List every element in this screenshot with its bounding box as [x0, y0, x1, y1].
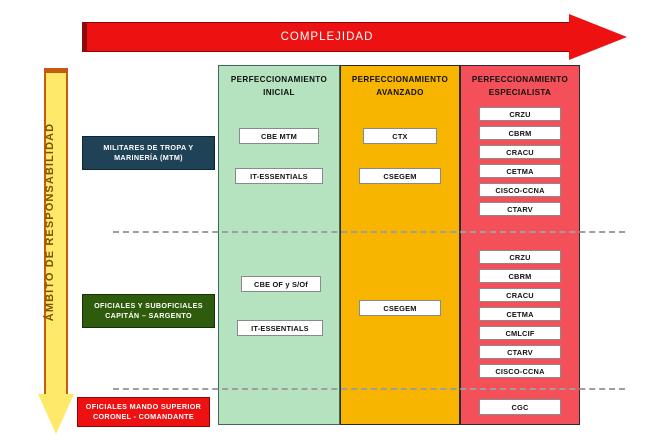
column-header-specialist-line1: PERFECCIONAMIENTO [461, 74, 579, 87]
role-label-troop: MILITARES DE TROPA Y MARINERÍA (MTM) [82, 136, 215, 170]
responsibility-arrow-head [38, 394, 74, 434]
row-separator-troop-officers [113, 231, 625, 233]
responsibility-arrow: ÁMBITO DE RESPONSABILIDAD [38, 68, 78, 436]
course-chip[interactable]: CISCO-CCNA [479, 183, 561, 197]
course-chip[interactable]: CETMA [479, 307, 561, 321]
role-label-troop-line2: MARINERÍA (MTM) [114, 153, 183, 163]
complexity-arrow-head [569, 14, 627, 60]
column-header-initial-line2: INICIAL [219, 87, 339, 100]
responsibility-axis-label: ÁMBITO DE RESPONSABILIDAD [44, 87, 56, 357]
role-label-troop-line1: MILITARES DE TROPA Y [103, 143, 193, 153]
course-chip[interactable]: CRACU [479, 288, 561, 302]
responsibility-arrow-cap [44, 68, 68, 73]
course-chip[interactable]: IT-ESSENTIALS [235, 168, 323, 184]
column-header-initial: PERFECCIONAMIENTO INICIAL [219, 74, 339, 100]
course-chip[interactable]: CBE MTM [239, 128, 319, 144]
course-chip[interactable]: CMLCIF [479, 326, 561, 340]
course-chip[interactable]: CSEGEM [359, 300, 441, 316]
role-label-senior-command: OFICIALES MANDO SUPERIOR CORONEL - COMAN… [77, 397, 210, 427]
complexity-arrow: COMPLEJIDAD [82, 14, 630, 60]
course-chip[interactable]: CRZU [479, 107, 561, 121]
course-chip[interactable]: CTX [363, 128, 437, 144]
course-chip[interactable]: CGC [479, 399, 561, 415]
course-chip[interactable]: CBE OF y S/Of [241, 276, 321, 292]
course-chip[interactable]: CETMA [479, 164, 561, 178]
course-chip[interactable]: CBRM [479, 269, 561, 283]
column-header-specialist-line2: ESPECIALISTA [461, 87, 579, 100]
diagram-canvas: COMPLEJIDAD ÁMBITO DE RESPONSABILIDAD MI… [0, 0, 650, 440]
column-header-advanced: PERFECCIONAMIENTO AVANZADO [341, 74, 459, 100]
course-chip[interactable]: CBRM [479, 126, 561, 140]
column-header-advanced-line1: PERFECCIONAMIENTO [341, 74, 459, 87]
column-header-specialist: PERFECCIONAMIENTO ESPECIALISTA [461, 74, 579, 100]
course-chip[interactable]: CTARV [479, 345, 561, 359]
complexity-axis-label: COMPLEJIDAD [82, 22, 572, 52]
column-perfeccionamiento-inicial: PERFECCIONAMIENTO INICIAL [218, 65, 340, 425]
course-chip[interactable]: CRACU [479, 145, 561, 159]
role-label-officers-ncos: OFICIALES Y SUBOFICIALES CAPITÁN – SARGE… [82, 294, 215, 328]
role-label-officers-ncos-line1: OFICIALES Y SUBOFICIALES [94, 301, 203, 311]
course-chip[interactable]: CSEGEM [359, 168, 441, 184]
course-chip[interactable]: CRZU [479, 250, 561, 264]
row-separator-officers-command [113, 388, 625, 390]
role-label-senior-command-line1: OFICIALES MANDO SUPERIOR [86, 402, 201, 412]
column-header-initial-line1: PERFECCIONAMIENTO [219, 74, 339, 87]
course-chip[interactable]: CTARV [479, 202, 561, 216]
role-label-officers-ncos-line2: CAPITÁN – SARGENTO [105, 311, 192, 321]
course-chip[interactable]: CISCO-CCNA [479, 364, 561, 378]
course-chip[interactable]: IT-ESSENTIALS [237, 320, 323, 336]
role-label-senior-command-line2: CORONEL - COMANDANTE [93, 412, 194, 422]
column-perfeccionamiento-avanzado: PERFECCIONAMIENTO AVANZADO [340, 65, 460, 425]
column-header-advanced-line2: AVANZADO [341, 87, 459, 100]
